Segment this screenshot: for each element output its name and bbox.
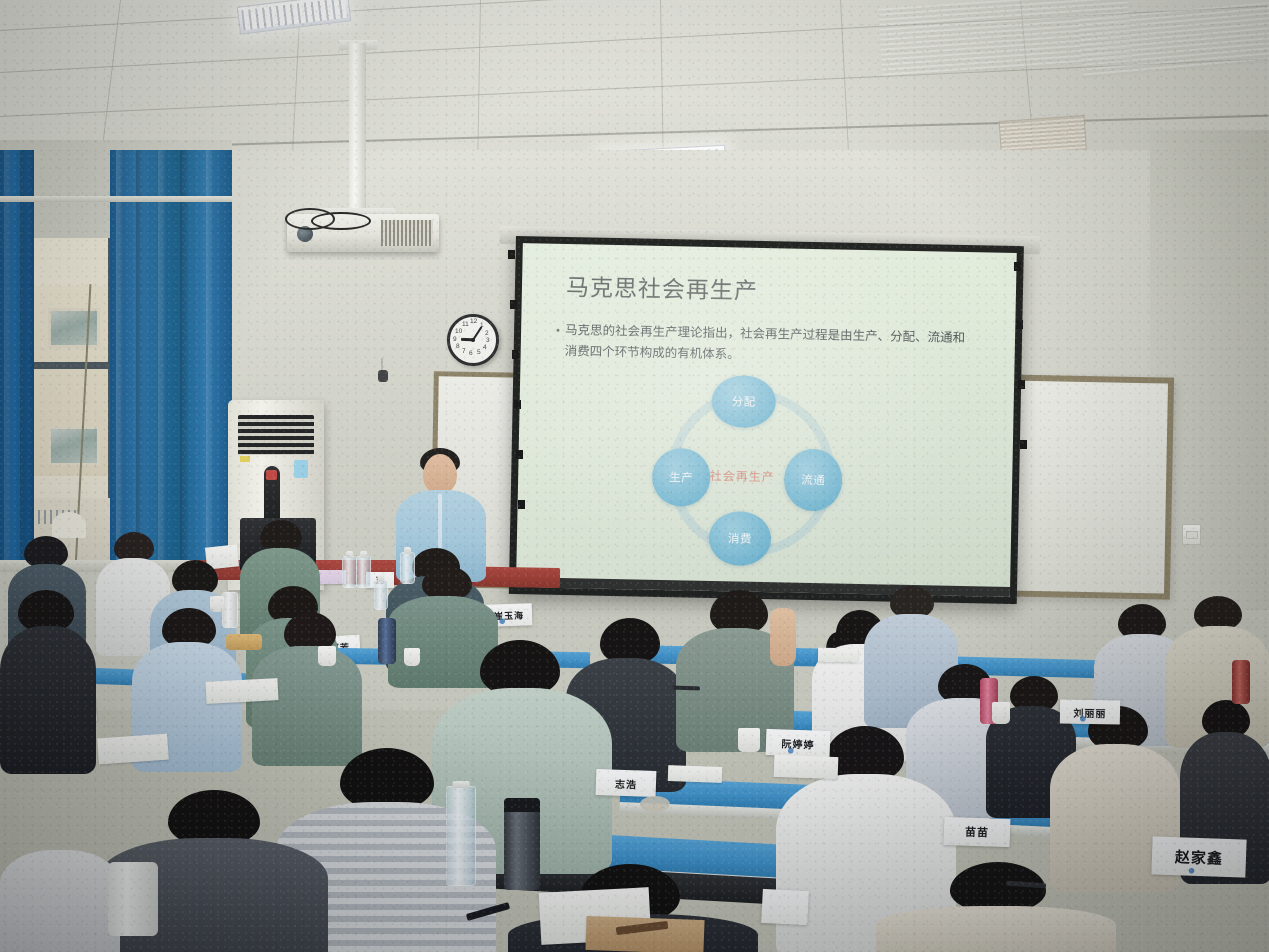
building-window [48,308,100,348]
ac-sticker [294,460,308,478]
name-card [761,889,809,925]
ac-status-light [266,470,277,480]
screen-edge-tab [508,250,515,259]
snack [226,634,262,650]
attendee [876,862,1116,952]
ac-label [240,456,250,462]
screen-edge-tab [512,350,519,359]
name-card-text: 赵家鑫 [1175,846,1224,869]
name-card-ruan-tingting: 阮婷婷 [766,729,831,757]
curtain-left[interactable] [0,150,34,570]
curtain-rod [0,196,232,202]
name-card-text: 苗苗 [965,824,990,841]
screen-edge-tab [1014,262,1021,271]
clock-numeral: 9 [453,336,457,343]
slide-bullet-body: 马克思的社会再生产理论指出，社会再生产过程是由生产、分配、流通和消费四个环节构成… [565,323,966,361]
slide-bullet-text: • 马克思的社会再生产理论指出，社会再生产过程是由生产、分配、流通和消费四个环节… [564,320,975,369]
paper-cup [318,646,336,666]
screen-edge-tab [514,400,521,409]
paper-cup [992,702,1010,724]
water-bottle [342,556,357,588]
screen-edge-tab [1020,440,1027,449]
screen-edge-tab [1018,380,1025,389]
clock-numeral: 5 [477,349,481,356]
wall-sensor [378,370,388,382]
paper-cup [738,728,760,752]
attendee [0,590,96,770]
cycle-diagram: 分配 流通 消费 生产 社会再生产 [634,373,848,577]
papers [774,755,839,779]
projector-mount-pole [349,43,366,218]
clock-numeral: 12 [470,318,477,325]
screen-edge-tab [1016,320,1023,329]
clock-numeral: 6 [469,350,473,357]
curtain-right[interactable] [110,150,232,570]
clock-numeral: 3 [486,337,490,344]
cycle-node-circulation: 流通 [784,448,843,511]
raised-hand [770,608,796,666]
clock-numeral: 7 [462,348,466,355]
clock-numeral: 11 [462,321,469,328]
papers [668,765,723,783]
clock-numeral: 10 [455,328,462,335]
water-bottle [400,552,415,584]
name-card-liu-lili: 刘丽丽 [1060,699,1120,724]
window-mullion [26,362,112,369]
screen-edge-tab [510,300,517,309]
whiteboard-right [998,374,1174,599]
thermos-bottle [108,862,158,936]
classroom-photo: 12 1 2 3 4 5 6 7 8 9 10 11 马克思社会再生产 • 马克… [0,0,1269,952]
thermos-bottle [1232,660,1250,704]
paper-cup [210,596,224,612]
name-card-zhao-jiaxin: 赵家鑫 [1151,836,1246,877]
wall-clock: 12 1 2 3 4 5 6 7 8 9 10 11 [447,314,499,366]
mouse [640,796,670,812]
clock-numeral: 2 [485,330,489,337]
thermos [222,592,238,628]
papers [818,648,858,663]
paper-cup [404,648,420,666]
projector-cables [281,210,401,236]
clipboard [585,916,704,952]
cycle-center-label: 社会再生产 [694,467,790,486]
satellite-dish [52,512,86,538]
light-switch[interactable] [1182,524,1201,545]
name-card-text: 志浩 [615,775,638,791]
clock-numeral: 4 [483,344,487,351]
thermos-bottle [378,618,396,664]
ac-vent-grille [238,415,314,455]
papers [205,678,278,704]
window [26,238,112,568]
building-window [48,426,100,466]
cycle-node-consumption: 消费 [708,511,771,566]
presenter-head [423,454,457,494]
screen-edge-tab [516,450,523,459]
water-bottle [446,786,476,886]
name-card-miaomiao: 苗苗 [944,817,1011,847]
ceiling-projector [287,214,439,252]
slide-title: 马克思社会再生产 [566,268,759,306]
clock-center-pin [471,338,475,342]
bullet-icon: • [556,322,560,340]
name-card-zhihao: 志浩 [596,769,657,797]
clock-numeral: 8 [456,343,460,350]
water-bottle [374,580,388,610]
water-bottle [356,556,371,588]
screen-edge-tab [518,500,525,509]
projection-screen: 马克思社会再生产 • 马克思的社会再生产理论指出，社会再生产过程是由生产、分配、… [509,236,1024,604]
papers [97,734,169,765]
thermos-bottle [504,798,540,890]
attendee [0,840,120,952]
